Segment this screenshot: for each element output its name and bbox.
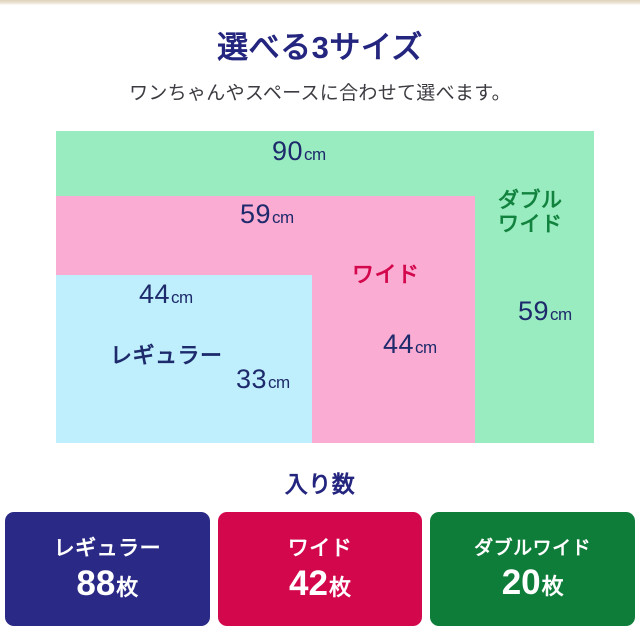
dimension-value: 44 — [383, 329, 414, 359]
count-card-name: レギュラー — [54, 538, 162, 559]
dimension-value: 90 — [272, 136, 303, 166]
count-unit: 枚 — [329, 575, 351, 600]
count-value: 20 — [502, 563, 541, 602]
dimension-unit: cm — [304, 145, 326, 164]
size-infographic: 選べる3サイズ ワンちゃんやスペースに合わせて選べます。 90cm 59cm ダ… — [0, 0, 640, 640]
count-section-heading: 入り数 — [0, 465, 640, 499]
dimension-unit: cm — [550, 305, 572, 324]
size-name-regular: レギュラー — [110, 345, 223, 367]
dimension-label-regular-width: 44cm — [139, 281, 193, 308]
dimension-value: 59 — [518, 296, 549, 326]
dimension-label-regular-height: 33cm — [236, 366, 290, 393]
count-value: 42 — [289, 564, 328, 603]
count-card-double-wide: ダブルワイド 20枚 — [430, 512, 635, 626]
count-unit: 枚 — [116, 575, 138, 600]
dimension-label-double-wide-height: 59cm — [518, 298, 572, 325]
count-card-name: ワイド — [288, 538, 353, 559]
count-card-wide: ワイド 42枚 — [218, 512, 423, 626]
dimension-unit: cm — [268, 373, 290, 392]
count-card-quantity: 42枚 — [289, 566, 351, 601]
dimension-label-wide-width: 59cm — [240, 201, 294, 228]
dimension-value: 33 — [236, 364, 267, 394]
count-card-regular: レギュラー 88枚 — [5, 512, 210, 626]
dimension-unit: cm — [171, 288, 193, 307]
size-name-line-2: ワイド — [498, 213, 563, 237]
count-card-list: レギュラー 88枚 ワイド 42枚 ダブルワイド 20枚 — [5, 512, 635, 626]
count-value: 88 — [76, 564, 115, 603]
dimension-value: 44 — [139, 279, 170, 309]
dimension-unit: cm — [272, 208, 294, 227]
count-card-quantity: 20枚 — [502, 565, 564, 600]
count-card-quantity: 88枚 — [76, 566, 138, 601]
count-card-name: ダブルワイド — [474, 539, 591, 558]
dimension-label-wide-height: 44cm — [383, 331, 437, 358]
dimension-unit: cm — [415, 338, 437, 357]
dimension-value: 59 — [240, 199, 271, 229]
count-unit: 枚 — [542, 574, 564, 599]
size-name-double-wide: ダブル ワイド — [498, 189, 563, 237]
size-name-line-1: ダブル — [498, 189, 563, 213]
size-name-wide: ワイド — [352, 264, 420, 286]
dimension-label-double-wide-width: 90cm — [272, 138, 326, 165]
